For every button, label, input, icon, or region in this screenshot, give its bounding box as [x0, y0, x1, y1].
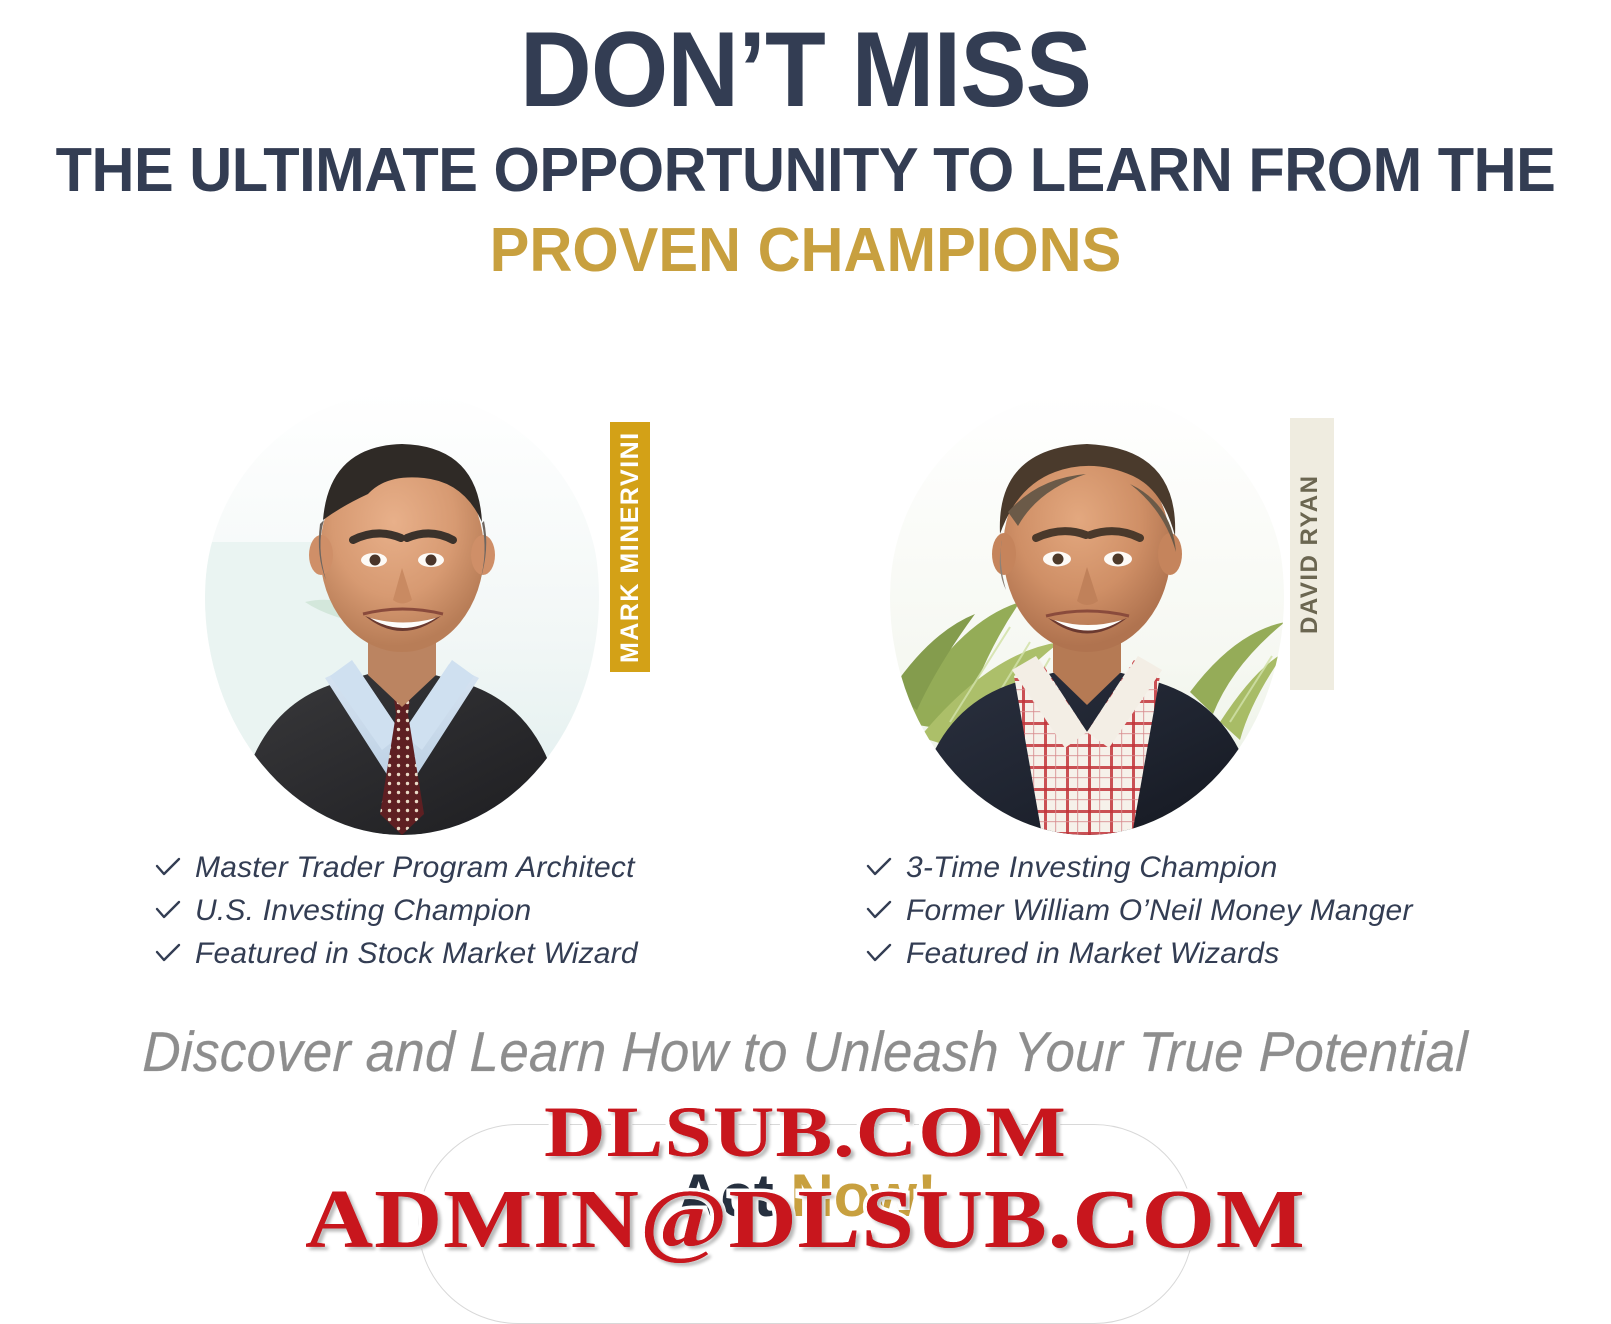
portrait-wrapper-right: DAVID RYAN	[890, 392, 1285, 835]
headline-line-3: PROVEN CHAMPIONS	[32, 214, 1579, 288]
check-icon	[866, 931, 906, 963]
check-icon	[866, 888, 906, 920]
speakers-section: MARK MINERVINI	[0, 372, 1611, 842]
check-icon	[155, 845, 195, 877]
list-item: 3-Time Investing Champion	[866, 845, 1413, 888]
credentials-list-david-ryan: 3-Time Investing Champion Former William…	[866, 845, 1413, 974]
speaker-name-ribbon-mark-minervini: MARK MINERVINI	[610, 422, 650, 672]
watermark-domain: DLSUB.COM	[0, 1090, 1611, 1174]
list-item: Featured in Market Wizards	[866, 931, 1413, 974]
credentials-list-mark-minervini: Master Trader Program Architect U.S. Inv…	[155, 845, 638, 974]
tagline: Discover and Learn How to Unleash Your T…	[8, 1016, 1603, 1090]
headline-line-2: THE ULTIMATE OPPORTUNITY TO LEARN FROM T…	[32, 134, 1579, 208]
list-item: Former William O’Neil Money Manger	[866, 888, 1413, 931]
speaker-card-david-ryan: DAVID RYAN	[855, 372, 1335, 842]
headline-block: DON’T MISS THE ULTIMATE OPPORTUNITY TO L…	[0, 0, 1611, 288]
credential-text: U.S. Investing Champion	[195, 889, 531, 932]
credential-text: Featured in Stock Market Wizard	[195, 932, 638, 975]
list-item: U.S. Investing Champion	[155, 888, 638, 931]
portrait-photo-david-ryan	[890, 392, 1285, 835]
speaker-name-ribbon-david-ryan: DAVID RYAN	[1290, 418, 1334, 690]
speaker-card-mark-minervini: MARK MINERVINI	[170, 372, 650, 842]
list-item: Master Trader Program Architect	[155, 845, 638, 888]
check-icon	[155, 931, 195, 963]
headline-line-1: DON’T MISS	[56, 10, 1554, 128]
tagline-text: Discover and Learn How to Unleash Your T…	[142, 1016, 1470, 1090]
credential-text: Featured in Market Wizards	[906, 932, 1279, 975]
check-icon	[155, 888, 195, 920]
credential-text: Master Trader Program Architect	[195, 846, 635, 889]
check-icon	[866, 845, 906, 877]
watermark-email: ADMIN@DLSUB.COM	[0, 1172, 1611, 1268]
credential-text: Former William O’Neil Money Manger	[906, 889, 1413, 932]
list-item: Featured in Stock Market Wizard	[155, 931, 638, 974]
credentials-section: Master Trader Program Architect U.S. Inv…	[0, 845, 1611, 980]
portrait-photo-mark-minervini	[205, 392, 600, 835]
portrait-wrapper-left: MARK MINERVINI	[205, 392, 600, 835]
credential-text: 3-Time Investing Champion	[906, 846, 1278, 889]
